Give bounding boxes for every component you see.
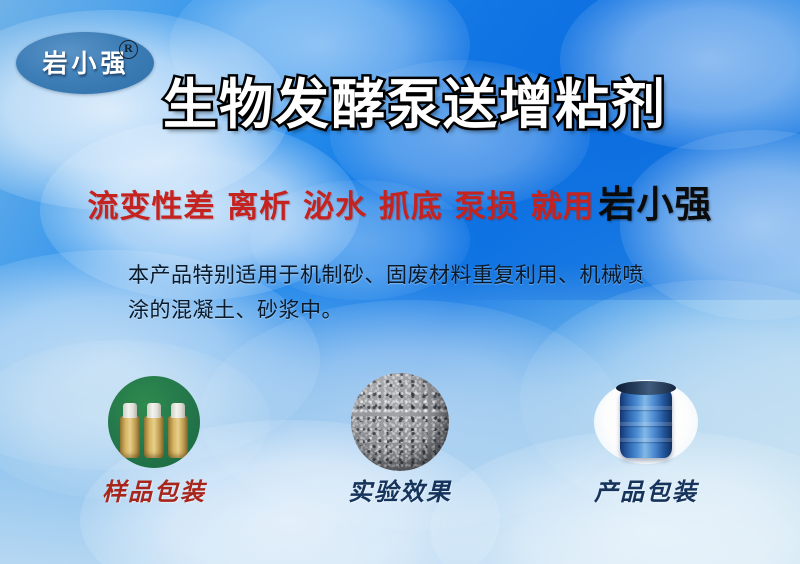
subtitle-row: 流变性差 离析 泌水 抓底 泵损 就用岩小强	[0, 186, 800, 223]
brand-logo-text: 岩小强	[40, 51, 129, 76]
registered-trademark-icon: R	[119, 40, 138, 59]
drum-body	[620, 388, 672, 458]
product-caption: 产品包装	[566, 480, 726, 504]
bottle-icon	[144, 416, 164, 458]
blue-drum-image	[586, 374, 706, 470]
drum-lid	[616, 381, 676, 395]
thumb-experiment-result	[320, 372, 480, 472]
bottle-icon	[120, 416, 140, 458]
page-title: 生物发酵泵送增粘剂	[0, 78, 800, 132]
product-packaging: 产品包装	[566, 372, 726, 504]
body-line-1: 本产品特别适用于机制砂、固废材料重复利用、机械喷	[128, 263, 644, 287]
subtitle-problems: 流变性差 离析 泌水 抓底 泵损 就用	[88, 189, 595, 225]
concrete-mortar-image	[351, 373, 449, 471]
bottle-icon	[168, 416, 188, 458]
product-experiment-result: 实验效果	[320, 372, 480, 504]
thumb-product-packaging	[566, 372, 726, 472]
product-caption: 实验效果	[320, 480, 480, 504]
body-line-2: 涂的混凝土、砂浆中。	[128, 293, 688, 328]
product-sample-packaging: 样品包装	[74, 372, 234, 504]
drum-rib	[620, 438, 672, 442]
thumb-sample-packaging	[74, 372, 234, 472]
body-paragraph: 本产品特别适用于机制砂、固废材料重复利用、机械喷 涂的混凝土、砂浆中。	[128, 258, 688, 328]
product-caption: 样品包装	[74, 480, 234, 504]
subtitle-brand: 岩小强	[598, 183, 712, 226]
drum-rib	[620, 422, 672, 426]
sample-bottles-image	[108, 376, 200, 468]
drum-rib	[620, 406, 672, 410]
product-thumbnail-row: 样品包装 实验效果 产品包装	[0, 372, 800, 504]
sky-deep-blue-gradient	[320, 0, 800, 300]
product-poster: 岩小强 R 生物发酵泵送增粘剂 流变性差 离析 泌水 抓底 泵损 就用岩小强 本…	[0, 0, 800, 564]
